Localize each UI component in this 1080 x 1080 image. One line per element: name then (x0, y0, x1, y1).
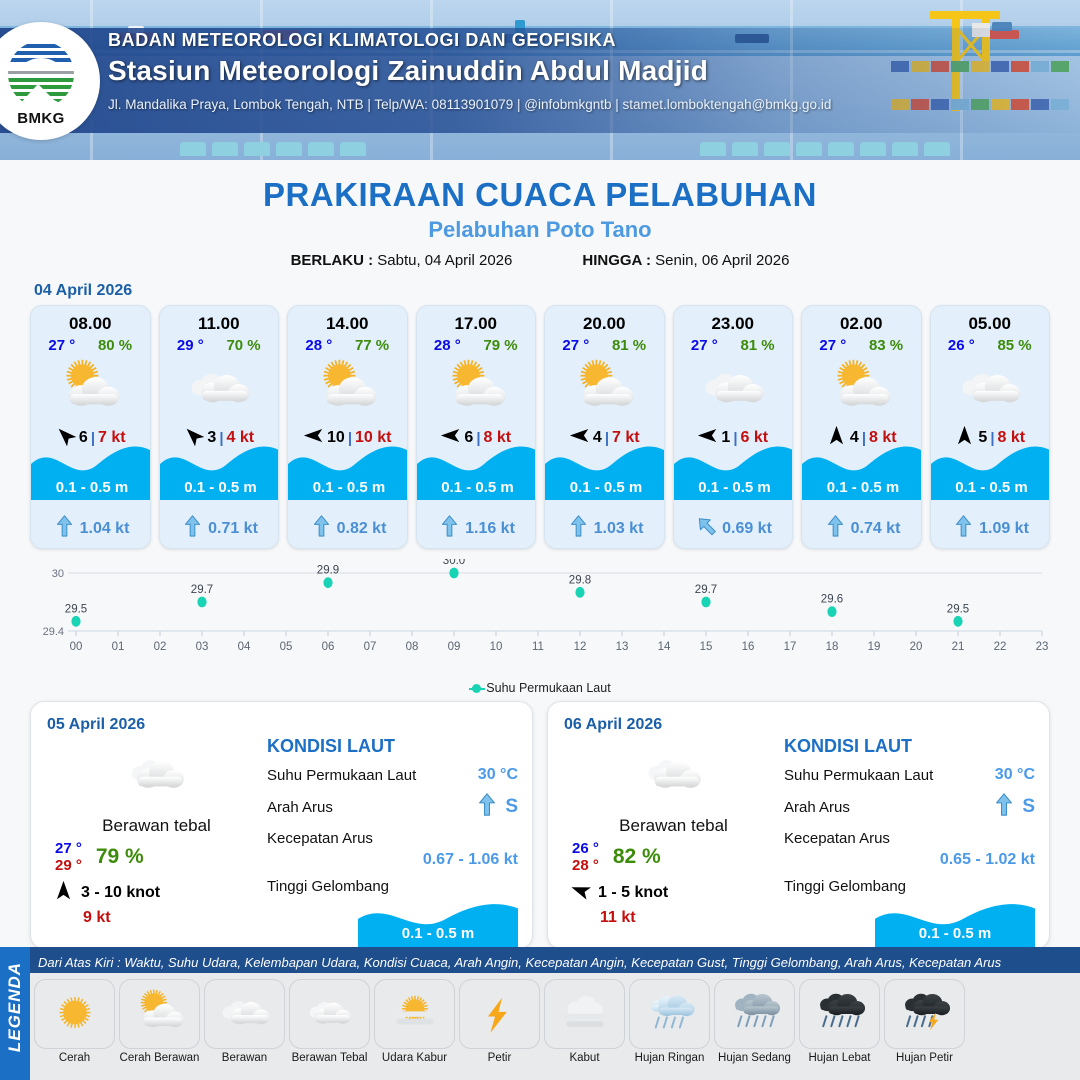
card-wave: 0.1 - 0.5 m (545, 438, 665, 500)
station-name: Stasiun Meteorologi Zainuddin Abdul Madj… (108, 55, 831, 87)
sea-title: KONDISI LAUT (267, 736, 518, 757)
berlaku-label: BERLAKU : (291, 252, 374, 269)
card-humidity: 77 % (355, 337, 389, 354)
current-direction-arrow-icon (55, 515, 74, 542)
sst-label: Suhu Permukaan Laut (784, 767, 933, 784)
card-temperature: 26 ° (948, 337, 975, 354)
svg-text:03: 03 (196, 641, 209, 653)
legend-note: Dari Atas Kiri : Waktu, Suhu Udara, Kele… (38, 955, 1074, 970)
page-header: BMKG BADAN METEOROLOGI KLIMATOLOGI DAN G… (0, 0, 1080, 160)
card-current: 1.04 kt (31, 515, 151, 542)
hourly-card: 20.00 27 ° 81 % 4 | 7 kt 0.1 - 0.5 m 1.0… (544, 305, 665, 549)
wave-height-row: Tinggi Gelombang (784, 878, 1035, 895)
weather-icon-berawan (160, 356, 279, 422)
daily-panels: 05 April 2026 Berawan tebal 27 ° 29 ° 79… (0, 695, 1080, 949)
current-speed-row: Kecepatan Arus (267, 830, 518, 847)
logo-label: BMKG (0, 110, 84, 127)
current-direction-value: S (994, 793, 1035, 821)
card-current: 0.71 kt (160, 515, 280, 542)
sst-value: 30 °C (995, 766, 1035, 784)
current-direction-arrow-icon (440, 515, 459, 542)
hourly-card: 11.00 29 ° 70 % 3 | 4 kt 0.1 - 0.5 m (159, 305, 280, 549)
daily-date: 05 April 2026 (47, 716, 516, 734)
legend-icon-kabut (544, 979, 625, 1049)
legenda-label: LEGENDA (5, 942, 25, 1072)
legend-icon-petir (459, 979, 540, 1049)
legend-item-label: Cerah Berawan (119, 1052, 200, 1064)
svg-text:29.8: 29.8 (569, 574, 591, 586)
current-speed-row: Kecepatan Arus (784, 830, 1035, 847)
sst-label: Suhu Permukaan Laut (267, 767, 416, 784)
card-wave: 0.1 - 0.5 m (31, 438, 151, 500)
card-time: 20.00 (545, 314, 664, 334)
chart-legend-label: Suhu Permukaan Laut (486, 681, 610, 695)
legend-item-label: Berawan (204, 1052, 285, 1064)
current-direction-value: S (477, 793, 518, 821)
svg-text:12: 12 (574, 641, 587, 653)
hingga-label: HINGGA : (582, 252, 651, 269)
page-subtitle: Pelabuhan Poto Tano (0, 217, 1080, 243)
hourly-card: 05.00 26 ° 85 % 5 | 8 kt 0.1 - 0.5 m (930, 305, 1051, 549)
berlaku: BERLAKU : Sabtu, 04 April 2026 (291, 252, 513, 269)
card-time: 11.00 (160, 314, 279, 334)
card-temp-hum: 26 ° 85 % (931, 337, 1050, 354)
card-wave: 0.1 - 0.5 m (160, 438, 280, 500)
daily-temp-col: 27 ° 29 ° (55, 840, 82, 874)
svg-text:29.4: 29.4 (43, 626, 64, 638)
daily-temp-max: 29 ° (55, 857, 82, 874)
wave-height: 0.1 - 0.5 m (160, 479, 280, 496)
daily-temp-min: 26 ° (572, 840, 599, 857)
card-temp-hum: 28 ° 79 % (417, 337, 536, 354)
card-wave: 0.1 - 0.5 m (417, 438, 537, 500)
hourly-card: 17.00 28 ° 79 % 6 | 8 kt 0.1 - 0.5 m 1.1… (416, 305, 537, 549)
sst-value: 30 °C (478, 766, 518, 784)
legend-item: Hujan Ringan (629, 979, 710, 1064)
card-temp-hum: 27 ° 81 % (545, 337, 664, 354)
card-current: 1.09 kt (931, 515, 1051, 542)
weather-icon-cerah-berawan (802, 356, 921, 422)
daily-wind-range: 1 - 5 knot (598, 884, 668, 902)
current-speed: 1.03 kt (594, 520, 644, 538)
svg-text:06: 06 (322, 641, 335, 653)
title-block: PRAKIRAAN CUACA PELABUHAN Pelabuhan Poto… (0, 160, 1080, 269)
legend-dot-icon (472, 684, 481, 693)
svg-text:11: 11 (532, 641, 544, 653)
svg-text:04: 04 (238, 641, 251, 653)
current-direction-arrow-icon (697, 515, 716, 542)
legend-item-label: Hujan Lebat (799, 1052, 880, 1064)
daily-gust: 9 kt (49, 909, 264, 927)
svg-text:21: 21 (952, 641, 965, 653)
wave-height: 0.1 - 0.5 m (545, 479, 665, 496)
svg-text:29.6: 29.6 (821, 594, 843, 606)
weather-icon-berawan-tebal (566, 742, 781, 808)
legend-item-label: Udara Kabur (374, 1052, 455, 1064)
current-speed: 0.82 kt (337, 520, 387, 538)
current-direction-arrow-icon (994, 793, 1014, 821)
sst-row: Suhu Permukaan Laut 30 °C (784, 766, 1035, 784)
wave-height: 0.1 - 0.5 m (417, 479, 537, 496)
svg-text:02: 02 (154, 641, 167, 653)
legend-item-label: Berawan Tebal (289, 1052, 370, 1064)
svg-text:29.7: 29.7 (695, 584, 717, 596)
svg-text:29.5: 29.5 (947, 603, 969, 615)
card-temperature: 29 ° (177, 337, 204, 354)
legend-item: Udara Kabur (374, 979, 455, 1064)
daily-condition: Berawan tebal (566, 816, 781, 836)
agency-name: BADAN METEOROLOGI KLIMATOLOGI DAN GEOFIS… (108, 30, 831, 51)
sst-chart-svg: 3029.40001020304050607080910111213141516… (30, 559, 1050, 659)
weather-icon-berawan-tebal (49, 742, 264, 808)
current-direction-label: Arah Arus (784, 799, 850, 816)
legend-icon-hujan-ringan (629, 979, 710, 1049)
legend-icon-cerah (34, 979, 115, 1049)
card-time: 08.00 (31, 314, 150, 334)
current-speed: 1.09 kt (979, 520, 1029, 538)
legend-item: Berawan Tebal (289, 979, 370, 1064)
legend-item: Petir (459, 979, 540, 1064)
daily-temp-min: 27 ° (55, 840, 82, 857)
svg-text:13: 13 (616, 641, 629, 653)
daily-wind: 1 - 5 knot (566, 880, 781, 906)
current-direction-row: Arah Arus S (267, 793, 518, 821)
legend-icon-cerah-berawan (119, 979, 200, 1049)
legend-icon-hujan-lebat (799, 979, 880, 1049)
weather-icon-cerah-berawan (545, 356, 664, 422)
svg-text:29.7: 29.7 (191, 584, 213, 596)
svg-text:16: 16 (742, 641, 755, 653)
current-direction-arrow-icon (183, 515, 202, 542)
current-direction-arrow-icon (569, 515, 588, 542)
contact-line: Jl. Mandalika Praya, Lombok Tengah, NTB … (108, 97, 831, 112)
hourly-card: 23.00 27 ° 81 % 1 | 6 kt 0.1 - 0.5 m (673, 305, 794, 549)
card-time: 23.00 (674, 314, 793, 334)
card-temp-hum: 28 ° 77 % (288, 337, 407, 354)
card-humidity: 81 % (612, 337, 646, 354)
wave-height-label: Tinggi Gelombang (267, 878, 389, 895)
daily-left: Berawan tebal 27 ° 29 ° 79 % 3 - 10 knot… (49, 742, 264, 927)
wave-height: 0.1 - 0.5 m (931, 479, 1051, 496)
wave-height: 0.1 - 0.5 m (288, 479, 408, 496)
legend-item-label: Hujan Petir (884, 1052, 965, 1064)
card-time: 02.00 (802, 314, 921, 334)
legend-icon-berawan (204, 979, 285, 1049)
daily-wave-graphic: 0.1 - 0.5 m (875, 897, 1035, 949)
daily-wave-value: 0.1 - 0.5 m (358, 925, 518, 942)
card-temp-hum: 29 ° 70 % (160, 337, 279, 354)
legend-item-label: Kabut (544, 1052, 625, 1064)
daily-sea-conditions: KONDISI LAUT Suhu Permukaan Laut 30 °C A… (267, 736, 518, 949)
daily-wind: 3 - 10 knot (49, 880, 264, 906)
current-direction-row: Arah Arus S (784, 793, 1035, 821)
hourly-card: 08.00 27 ° 80 % 6 | 7 kt 0.1 - 0.5 m 1.0… (30, 305, 151, 549)
current-direction-text: S (505, 796, 518, 818)
legend-item: Hujan Sedang (714, 979, 795, 1064)
legend-item: Hujan Lebat (799, 979, 880, 1064)
svg-text:01: 01 (112, 641, 125, 653)
daily-wind-range: 3 - 10 knot (81, 884, 160, 902)
hingga: HINGGA : Senin, 06 April 2026 (582, 252, 789, 269)
legend-icon-berawan-tebal (289, 979, 370, 1049)
card-humidity: 81 % (740, 337, 774, 354)
card-current: 1.16 kt (417, 515, 537, 542)
card-time: 05.00 (931, 314, 1050, 334)
legend-item: Cerah Berawan (119, 979, 200, 1064)
card-wave: 0.1 - 0.5 m (802, 438, 922, 500)
daily-temps: 26 ° 28 ° 82 % (566, 840, 781, 874)
wave-height-label: Tinggi Gelombang (784, 878, 906, 895)
current-speed-value: 0.65 - 1.02 kt (784, 851, 1035, 869)
daily-temp-col: 26 ° 28 ° (572, 840, 599, 874)
card-temperature: 27 ° (819, 337, 846, 354)
legend-item-label: Cerah (34, 1052, 115, 1064)
daily-temp-max: 28 ° (572, 857, 599, 874)
infographic-page: BMKG BADAN METEOROLOGI KLIMATOLOGI DAN G… (0, 0, 1080, 1080)
svg-text:30.0: 30.0 (443, 559, 465, 567)
wind-direction-arrow-icon (570, 880, 591, 906)
wave-height-row: Tinggi Gelombang (267, 878, 518, 895)
sst-row: Suhu Permukaan Laut 30 °C (267, 766, 518, 784)
card-current: 0.74 kt (802, 515, 922, 542)
legend-item-label: Hujan Sedang (714, 1052, 795, 1064)
daily-left: Berawan tebal 26 ° 28 ° 82 % 1 - 5 knot … (566, 742, 781, 927)
svg-text:05: 05 (280, 641, 293, 653)
weather-icon-cerah-berawan (288, 356, 407, 422)
card-current: 0.69 kt (674, 515, 794, 542)
daily-date: 06 April 2026 (564, 716, 1033, 734)
legend-item: Hujan Petir (884, 979, 965, 1064)
current-speed: 1.16 kt (465, 520, 515, 538)
legend-icon-udara-kabur (374, 979, 455, 1049)
current-speed: 1.04 kt (80, 520, 130, 538)
legend-item: Cerah (34, 979, 115, 1064)
hourly-date: 04 April 2026 (34, 282, 1080, 300)
svg-text:15: 15 (700, 641, 713, 653)
card-temp-hum: 27 ° 80 % (31, 337, 150, 354)
card-wave: 0.1 - 0.5 m (931, 438, 1051, 500)
wave-height: 0.1 - 0.5 m (31, 479, 151, 496)
hourly-card: 14.00 28 ° 77 % 10 | 10 kt 0.1 - 0.5 m 0… (287, 305, 408, 549)
card-humidity: 85 % (997, 337, 1031, 354)
card-humidity: 79 % (483, 337, 517, 354)
legend-item: Kabut (544, 979, 625, 1064)
berlaku-value: Sabtu, 04 April 2026 (377, 252, 512, 269)
svg-text:30: 30 (52, 568, 64, 580)
svg-text:09: 09 (448, 641, 461, 653)
svg-text:07: 07 (364, 641, 377, 653)
validity-row: BERLAKU : Sabtu, 04 April 2026 HINGGA : … (0, 252, 1080, 269)
legend-items: Cerah Cerah Berawan Berawan (34, 979, 1076, 1064)
card-temp-hum: 27 ° 81 % (674, 337, 793, 354)
card-temp-hum: 27 ° 83 % (802, 337, 921, 354)
card-current: 0.82 kt (288, 515, 408, 542)
current-direction-arrow-icon (477, 793, 497, 821)
svg-text:14: 14 (658, 641, 671, 653)
current-direction-arrow-icon (954, 515, 973, 542)
current-direction-arrow-icon (826, 515, 845, 542)
hourly-cards: 08.00 27 ° 80 % 6 | 7 kt 0.1 - 0.5 m 1.0… (0, 305, 1080, 549)
daily-wave-value: 0.1 - 0.5 m (875, 925, 1035, 942)
svg-text:17: 17 (784, 641, 797, 653)
seats-decor (0, 130, 1080, 160)
weather-icon-berawan (674, 356, 793, 422)
current-speed-label: Kecepatan Arus (784, 830, 890, 847)
svg-text:10: 10 (490, 641, 503, 653)
current-speed: 0.74 kt (851, 520, 901, 538)
card-humidity: 83 % (869, 337, 903, 354)
legenda-tab: LEGENDA (0, 947, 30, 1080)
legend-bar: LEGENDA Dari Atas Kiri : Waktu, Suhu Uda… (0, 947, 1080, 1080)
card-temperature: 28 ° (305, 337, 332, 354)
weather-icon-berawan (931, 356, 1050, 422)
card-time: 14.00 (288, 314, 407, 334)
svg-text:22: 22 (994, 641, 1007, 653)
card-temperature: 27 ° (691, 337, 718, 354)
svg-text:20: 20 (910, 641, 923, 653)
card-time: 17.00 (417, 314, 536, 334)
wave-height: 0.1 - 0.5 m (674, 479, 794, 496)
wind-direction-arrow-icon (53, 880, 74, 906)
daily-sea-conditions: KONDISI LAUT Suhu Permukaan Laut 30 °C A… (784, 736, 1035, 949)
legend-item-label: Petir (459, 1052, 540, 1064)
card-wave: 0.1 - 0.5 m (288, 438, 408, 500)
current-speed-value: 0.67 - 1.06 kt (267, 851, 518, 869)
current-direction-text: S (1022, 796, 1035, 818)
current-speed-label: Kecepatan Arus (267, 830, 373, 847)
header-text-block: BADAN METEOROLOGI KLIMATOLOGI DAN GEOFIS… (108, 30, 831, 112)
card-humidity: 80 % (98, 337, 132, 354)
daily-panel: 06 April 2026 Berawan tebal 26 ° 28 ° 82… (547, 701, 1050, 949)
svg-text:08: 08 (406, 641, 419, 653)
svg-text:23: 23 (1036, 641, 1049, 653)
daily-panel: 05 April 2026 Berawan tebal 27 ° 29 ° 79… (30, 701, 533, 949)
daily-temps: 27 ° 29 ° 79 % (49, 840, 264, 874)
sea-title: KONDISI LAUT (784, 736, 1035, 757)
weather-icon-cerah-berawan (31, 356, 150, 422)
legend-icon-hujan-petir (884, 979, 965, 1049)
card-current: 1.03 kt (545, 515, 665, 542)
svg-text:19: 19 (868, 641, 881, 653)
daily-humidity: 79 % (96, 845, 144, 869)
current-direction-label: Arah Arus (267, 799, 333, 816)
wave-height: 0.1 - 0.5 m (802, 479, 922, 496)
card-humidity: 70 % (226, 337, 260, 354)
card-temperature: 27 ° (48, 337, 75, 354)
svg-text:00: 00 (70, 641, 83, 653)
legend-icon-hujan-sedang (714, 979, 795, 1049)
daily-humidity: 82 % (613, 845, 661, 869)
hourly-card: 02.00 27 ° 83 % 4 | 8 kt 0.1 - 0.5 m 0.7… (801, 305, 922, 549)
svg-text:29.5: 29.5 (65, 603, 87, 615)
chart-legend: Suhu Permukaan Laut (0, 681, 1080, 695)
daily-gust: 11 kt (566, 909, 781, 927)
card-temperature: 28 ° (434, 337, 461, 354)
current-speed: 0.71 kt (208, 520, 258, 538)
current-direction-arrow-icon (312, 515, 331, 542)
legend-item: Berawan (204, 979, 285, 1064)
current-speed: 0.69 kt (722, 520, 772, 538)
sst-chart: 3029.40001020304050607080910111213141516… (30, 559, 1050, 679)
daily-wave-graphic: 0.1 - 0.5 m (358, 897, 518, 949)
hingga-value: Senin, 06 April 2026 (655, 252, 789, 269)
card-wave: 0.1 - 0.5 m (674, 438, 794, 500)
svg-text:29.9: 29.9 (317, 565, 339, 577)
legend-item-label: Hujan Ringan (629, 1052, 710, 1064)
weather-icon-cerah-berawan (417, 356, 536, 422)
page-title: PRAKIRAAN CUACA PELABUHAN (0, 176, 1080, 214)
svg-text:18: 18 (826, 641, 839, 653)
daily-condition: Berawan tebal (49, 816, 264, 836)
card-temperature: 27 ° (562, 337, 589, 354)
